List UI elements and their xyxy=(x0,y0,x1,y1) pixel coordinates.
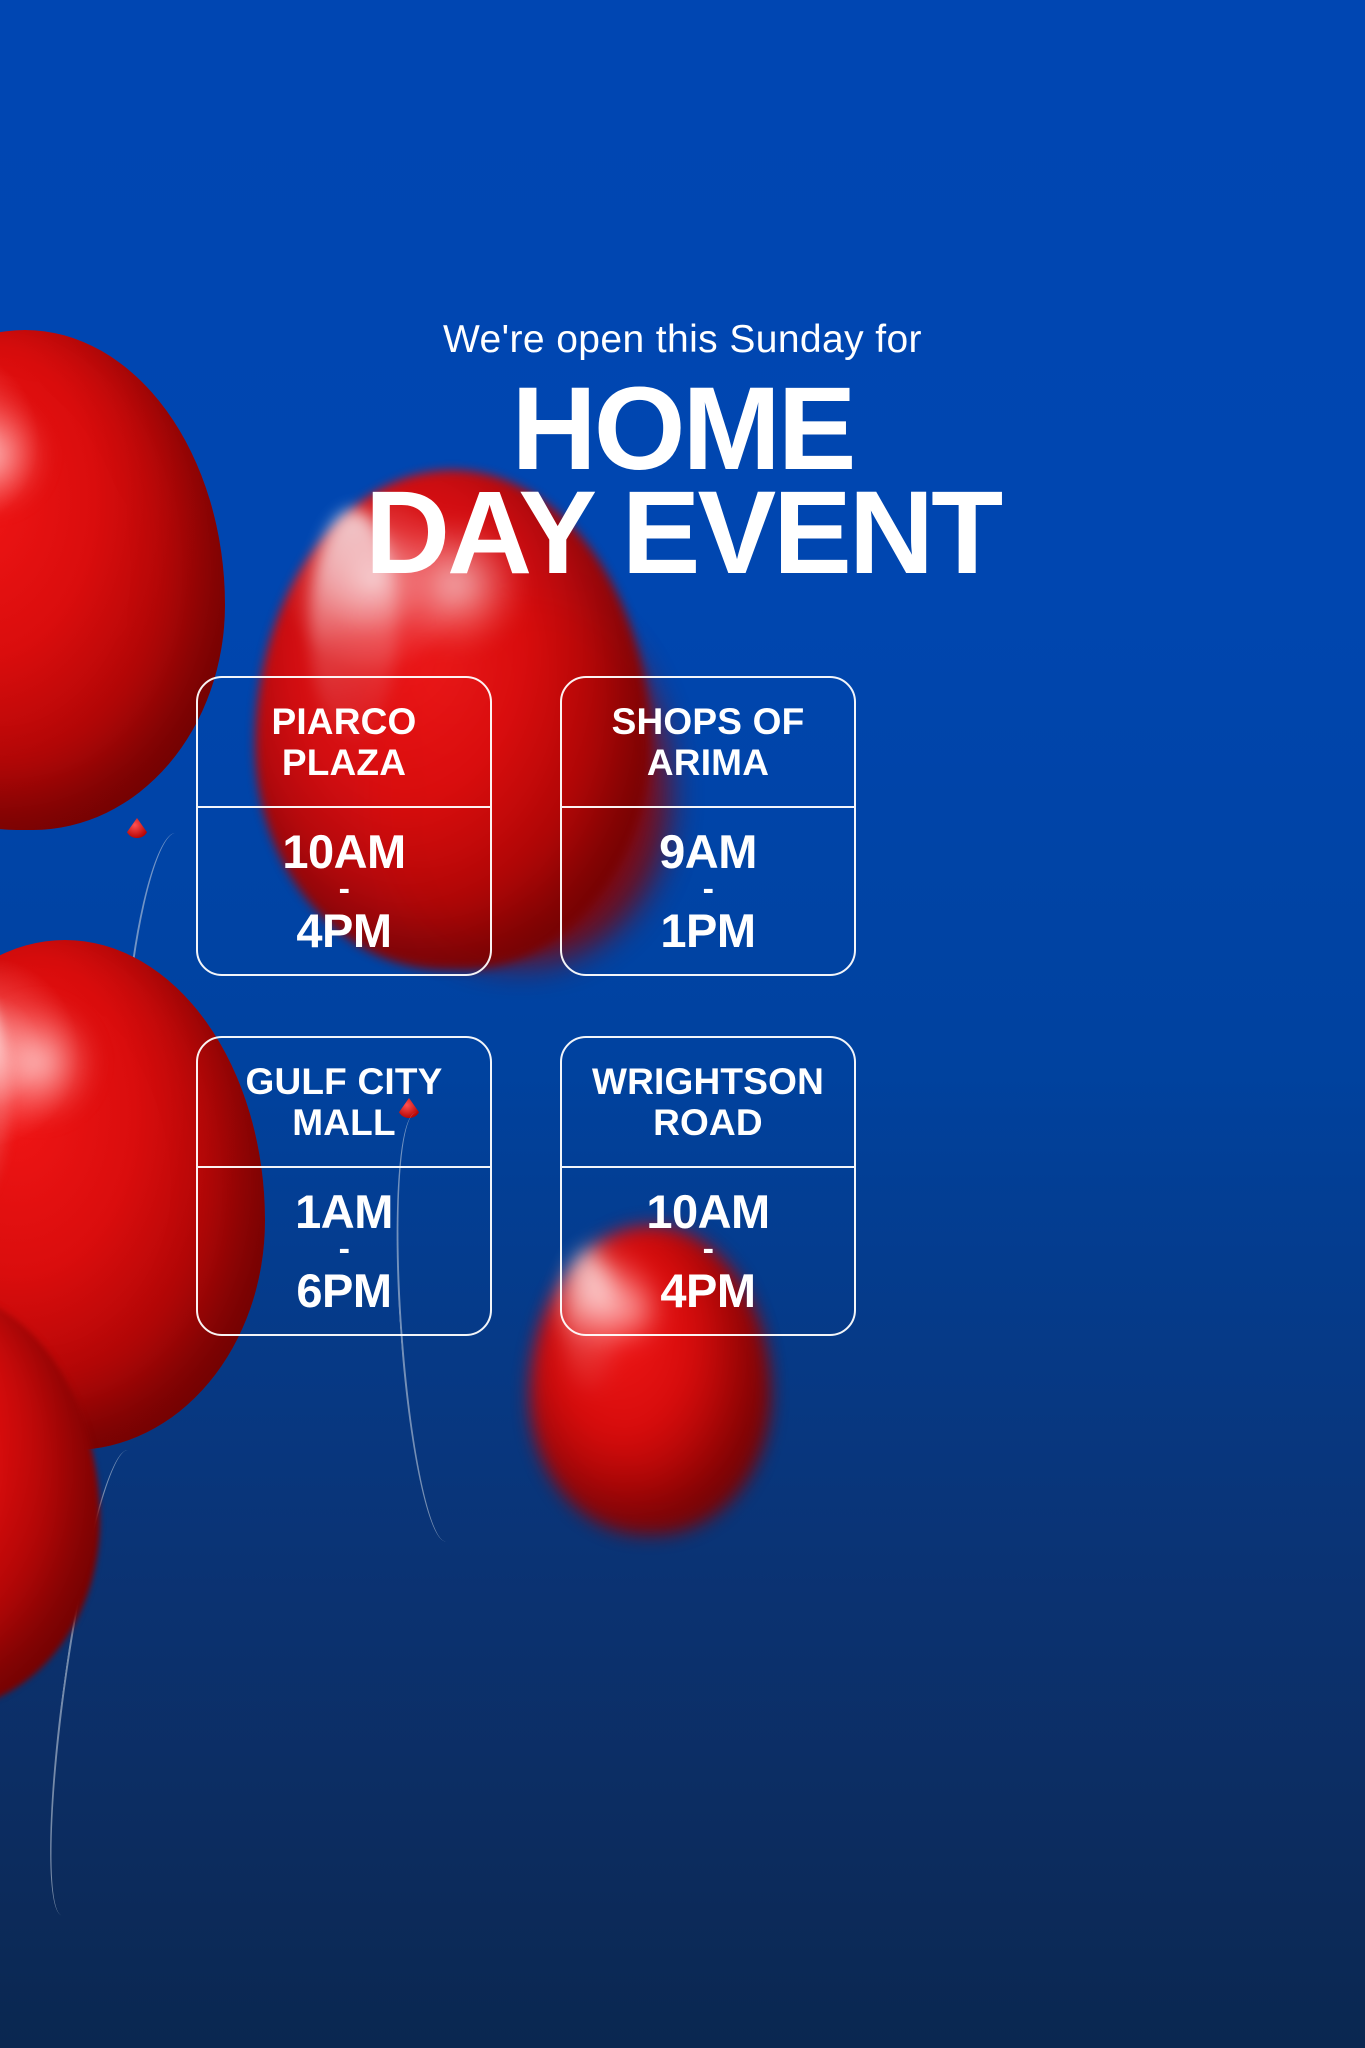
location-hours: 1AM - 6PM xyxy=(198,1168,490,1334)
location-card-gulf-city-mall: GULF CITY MALL 1AM - 6PM xyxy=(196,1036,492,1336)
time-dash: - xyxy=(339,1237,350,1263)
location-name-line-2: ROAD xyxy=(653,1102,763,1143)
location-card-grid: PIARCO PLAZA 10AM - 4PM SHOPS OF ARIMA 9… xyxy=(196,676,856,1336)
promo-poster: We're open this Sunday for HOME DAY EVEN… xyxy=(0,0,1365,2048)
opening-time: 10AM xyxy=(646,1188,769,1235)
location-name-line-2: PLAZA xyxy=(282,742,406,783)
location-name: WRIGHTSON ROAD xyxy=(562,1038,854,1168)
location-name-line-1: GULF CITY xyxy=(245,1061,442,1102)
headline-line-2: DAY EVENT xyxy=(0,482,1365,586)
closing-time: 1PM xyxy=(660,907,755,954)
location-name-line-1: PIARCO xyxy=(271,701,416,742)
opening-time: 10AM xyxy=(282,828,405,875)
location-name-line-1: WRIGHTSON xyxy=(592,1061,824,1102)
location-name-line-2: MALL xyxy=(292,1102,396,1143)
location-name: GULF CITY MALL xyxy=(198,1038,490,1168)
page-title: HOME DAY EVENT xyxy=(0,378,1365,586)
location-name-line-2: ARIMA xyxy=(647,742,769,783)
location-name: PIARCO PLAZA xyxy=(198,678,490,808)
location-card-shops-of-arima: SHOPS OF ARIMA 9AM - 1PM xyxy=(560,676,856,976)
location-hours: 9AM - 1PM xyxy=(562,808,854,974)
location-card-piarco-plaza: PIARCO PLAZA 10AM - 4PM xyxy=(196,676,492,976)
location-name-line-1: SHOPS OF xyxy=(612,701,805,742)
location-hours: 10AM - 4PM xyxy=(198,808,490,974)
location-name: SHOPS OF ARIMA xyxy=(562,678,854,808)
location-card-wrightson-road: WRIGHTSON ROAD 10AM - 4PM xyxy=(560,1036,856,1336)
balloon-knot-icon xyxy=(126,818,148,838)
location-hours: 10AM - 4PM xyxy=(562,1168,854,1334)
closing-time: 4PM xyxy=(660,1267,755,1314)
poster-subtitle: We're open this Sunday for xyxy=(0,318,1365,362)
opening-time: 1AM xyxy=(295,1188,393,1235)
time-dash: - xyxy=(703,877,714,903)
time-dash: - xyxy=(339,877,350,903)
closing-time: 4PM xyxy=(296,907,391,954)
closing-time: 6PM xyxy=(296,1267,391,1314)
opening-time: 9AM xyxy=(659,828,757,875)
time-dash: - xyxy=(703,1237,714,1263)
